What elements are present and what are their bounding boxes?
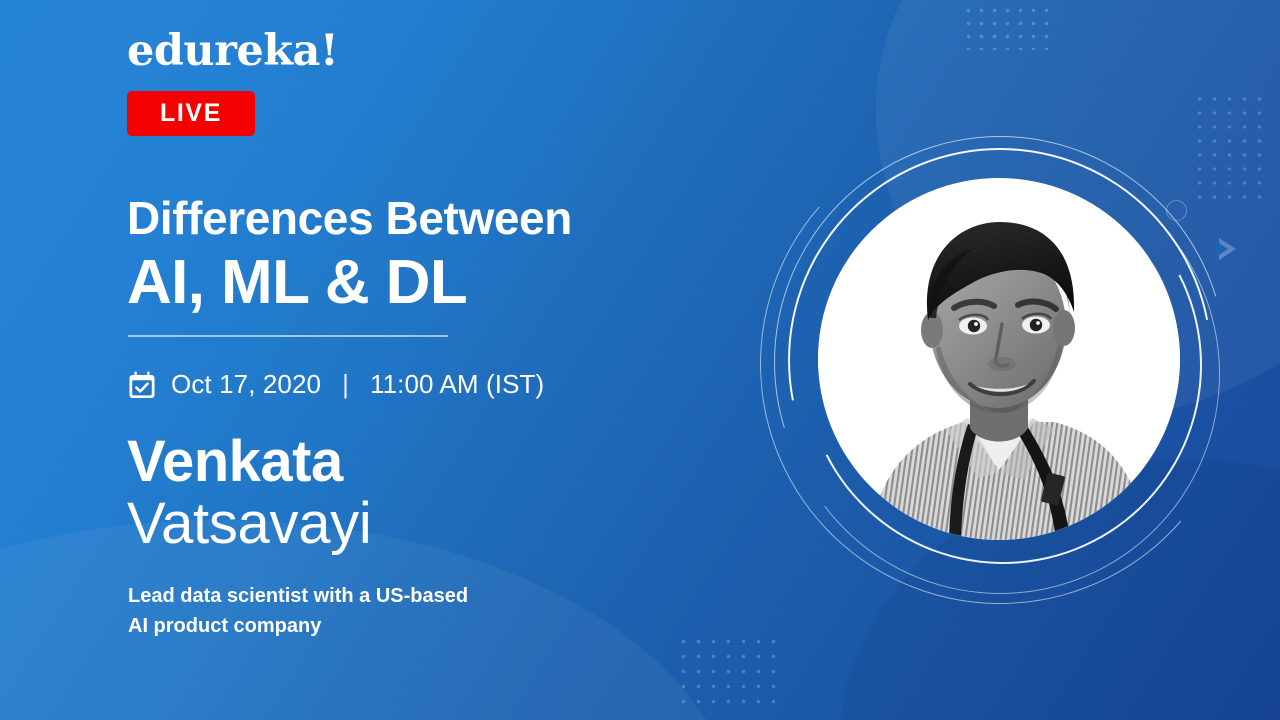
schedule-time: 11:00 AM (IST) [370, 369, 544, 400]
speaker-bio-line-2: AI product company [128, 611, 468, 641]
speaker-last-name: Vatsavayi [127, 495, 371, 553]
schedule-date: Oct 17, 2020 [171, 369, 321, 400]
schedule-row: Oct 17, 2020 | 11:00 AM (IST) [127, 369, 544, 400]
dot-grid-top-left-icon [962, 4, 1058, 50]
speaker-first-name: Venkata [127, 433, 343, 491]
speaker-portrait-frame [800, 160, 1200, 560]
avatar [818, 178, 1180, 540]
schedule-separator: | [335, 369, 356, 400]
title-line-1: Differences Between [127, 194, 572, 242]
edureka-logo: edureka! [127, 30, 338, 73]
speaker-bio: Lead data scientist with a US-based AI p… [128, 581, 468, 642]
live-badge: LIVE [127, 91, 255, 136]
play-triangle-icon [1219, 238, 1236, 260]
webinar-promo-slide: edureka! LIVE Differences Between AI, ML… [0, 0, 1280, 720]
dot-grid-right-icon [1192, 92, 1268, 204]
calendar-check-icon [127, 370, 157, 400]
title-line-2: AI, ML & DL [127, 250, 467, 315]
title-divider [128, 335, 448, 337]
content-column: edureka! LIVE Differences Between AI, ML… [127, 0, 787, 720]
speaker-bio-line-1: Lead data scientist with a US-based [128, 581, 468, 611]
